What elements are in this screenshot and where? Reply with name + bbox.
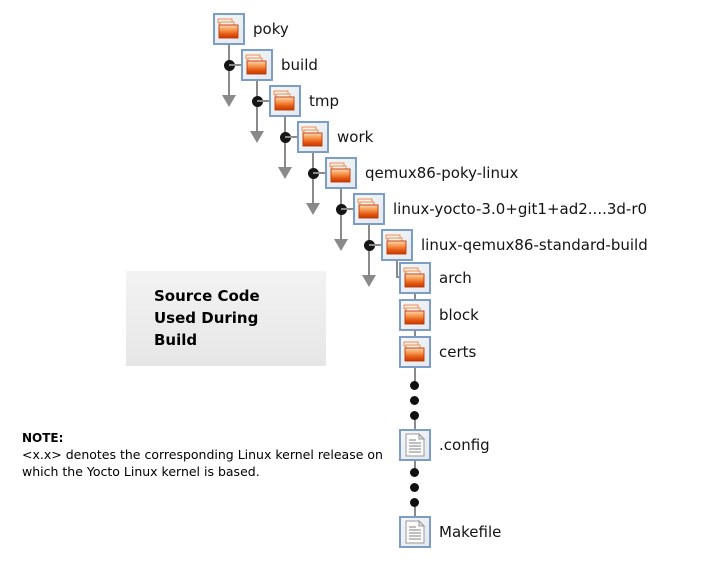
- folder-icon: [269, 85, 301, 117]
- directory-tree-diagram: poky build tmp: [0, 0, 705, 581]
- folder-icon-glyph: [385, 233, 409, 257]
- connector-arrow-tmp: [278, 167, 292, 179]
- ellipsis-dot: [410, 396, 419, 405]
- folder-icon: [325, 157, 357, 189]
- tree-node-build[interactable]: build: [241, 49, 273, 81]
- tree-node-label: arch: [439, 269, 472, 287]
- tree-node-label: linux-qemux86-standard-build: [421, 236, 648, 254]
- folder-icon-glyph: [301, 125, 325, 149]
- folder-icon-glyph: [403, 266, 427, 290]
- tree-node-work[interactable]: work: [297, 121, 329, 153]
- tree-node-config[interactable]: .config: [399, 429, 431, 461]
- tree-node-arch[interactable]: arch: [399, 262, 431, 294]
- folder-icon-glyph: [403, 303, 427, 327]
- tree-node-label: linux-yocto-3.0+git1+ad2....3d-r0: [393, 200, 647, 218]
- folder-icon: [381, 229, 413, 261]
- connector-arrow-linuxyocto: [362, 275, 376, 287]
- tree-node-label: block: [439, 306, 479, 324]
- tree-node-label: tmp: [309, 92, 339, 110]
- tree-node-label: qemux86-poky-linux: [365, 164, 518, 182]
- tree-node-tmp[interactable]: tmp: [269, 85, 301, 117]
- folder-icon-glyph: [217, 17, 241, 41]
- file-icon-glyph: [403, 433, 427, 457]
- tree-node-label: Makefile: [439, 523, 501, 541]
- connector-arrow-qemux86: [334, 239, 348, 251]
- tree-node-poky[interactable]: poky: [213, 13, 245, 45]
- tree-node-qemux86-poky-linux[interactable]: qemux86-poky-linux: [325, 157, 357, 189]
- folder-icon-glyph: [329, 161, 353, 185]
- tree-node-makefile[interactable]: Makefile: [399, 516, 431, 548]
- ellipsis-dot: [410, 381, 419, 390]
- folder-icon: [399, 336, 431, 368]
- folder-icon-glyph: [357, 197, 381, 221]
- tree-node-certs[interactable]: certs: [399, 336, 431, 368]
- folder-icon: [297, 121, 329, 153]
- note-title: NOTE:: [22, 430, 392, 446]
- connector-arrow-build: [250, 131, 264, 143]
- note-block: NOTE: <x.x> denotes the corresponding Li…: [22, 430, 392, 480]
- tree-node-block[interactable]: block: [399, 299, 431, 331]
- tree-node-label: certs: [439, 343, 476, 361]
- connector-arrow-work: [306, 203, 320, 215]
- tree-node-label: build: [281, 56, 318, 74]
- ellipsis-dot: [410, 498, 419, 507]
- folder-icon-glyph: [273, 89, 297, 113]
- file-icon-glyph: [403, 520, 427, 544]
- ellipsis-dot: [410, 468, 419, 477]
- tree-node-linux-qemux86-standard-build[interactable]: linux-qemux86-standard-build: [381, 229, 413, 261]
- folder-icon: [213, 13, 245, 45]
- tree-node-linux-yocto[interactable]: linux-yocto-3.0+git1+ad2....3d-r0: [353, 193, 385, 225]
- tree-node-label: .config: [439, 436, 490, 454]
- tree-node-label: poky: [253, 20, 289, 38]
- folder-icon: [399, 299, 431, 331]
- callout-label: Source Code Used During Build: [154, 285, 260, 351]
- tree-node-label: work: [337, 128, 373, 146]
- file-icon: [399, 429, 431, 461]
- note-body: <x.x> denotes the corresponding Linux ke…: [22, 446, 392, 480]
- connector-arrow-poky: [222, 95, 236, 107]
- source-code-callout-box: Source Code Used During Build: [126, 271, 326, 366]
- folder-icon-glyph: [403, 340, 427, 364]
- folder-icon: [241, 49, 273, 81]
- folder-icon-glyph: [245, 53, 269, 77]
- ellipsis-dot: [410, 411, 419, 420]
- ellipsis-dot: [410, 483, 419, 492]
- folder-icon: [399, 262, 431, 294]
- folder-icon: [353, 193, 385, 225]
- file-icon: [399, 516, 431, 548]
